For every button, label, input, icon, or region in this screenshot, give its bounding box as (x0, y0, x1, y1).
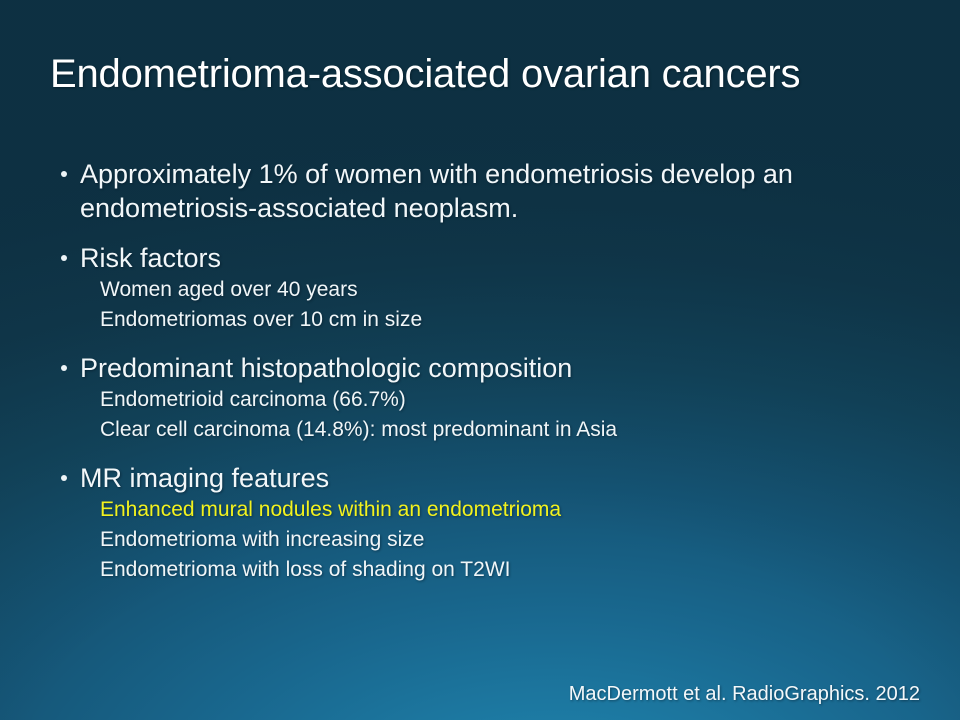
bullet-dot-icon (61, 365, 67, 371)
sub-item: Endometriomas over 10 cm in size (58, 305, 918, 335)
slide-title: Endometrioma-associated ovarian cancers (50, 49, 920, 99)
slide-content-body: Approximately 1% of women with endometri… (58, 157, 918, 585)
bullet-dot-icon (61, 475, 67, 481)
bullet-item-label: Predominant histopathologic composition (80, 353, 572, 383)
bullet-item-label: MR imaging features (80, 463, 329, 493)
sub-item-highlighted: Enhanced mural nodules within an endomet… (58, 495, 918, 525)
bullet-group: Approximately 1% of women with endometri… (58, 157, 918, 225)
bullet-item: MR imaging features (58, 461, 918, 495)
sub-item: Endometrioma with loss of shading on T2W… (58, 555, 918, 585)
source-citation: MacDermott et al. RadioGraphics. 2012 (0, 681, 920, 707)
bullet-item: Risk factors (58, 241, 918, 275)
sub-item: Clear cell carcinoma (14.8%): most predo… (58, 415, 918, 445)
bullet-dot-icon (61, 255, 67, 261)
bullet-group: MR imaging featuresEnhanced mural nodule… (58, 461, 918, 585)
bullet-item-label: Approximately 1% of women with endometri… (80, 159, 793, 223)
bullet-item: Approximately 1% of women with endometri… (58, 157, 918, 225)
bullet-dot-icon (61, 171, 67, 177)
bullet-group: Risk factorsWomen aged over 40 yearsEndo… (58, 241, 918, 335)
presentation-slide: Endometrioma-associated ovarian cancers … (0, 0, 960, 720)
bullet-item-label: Risk factors (80, 243, 221, 273)
bullet-item: Predominant histopathologic composition (58, 351, 918, 385)
sub-item: Endometrioma with increasing size (58, 525, 918, 555)
bullet-group: Predominant histopathologic compositionE… (58, 351, 918, 445)
sub-item: Endometrioid carcinoma (66.7%) (58, 385, 918, 415)
sub-item: Women aged over 40 years (58, 275, 918, 305)
